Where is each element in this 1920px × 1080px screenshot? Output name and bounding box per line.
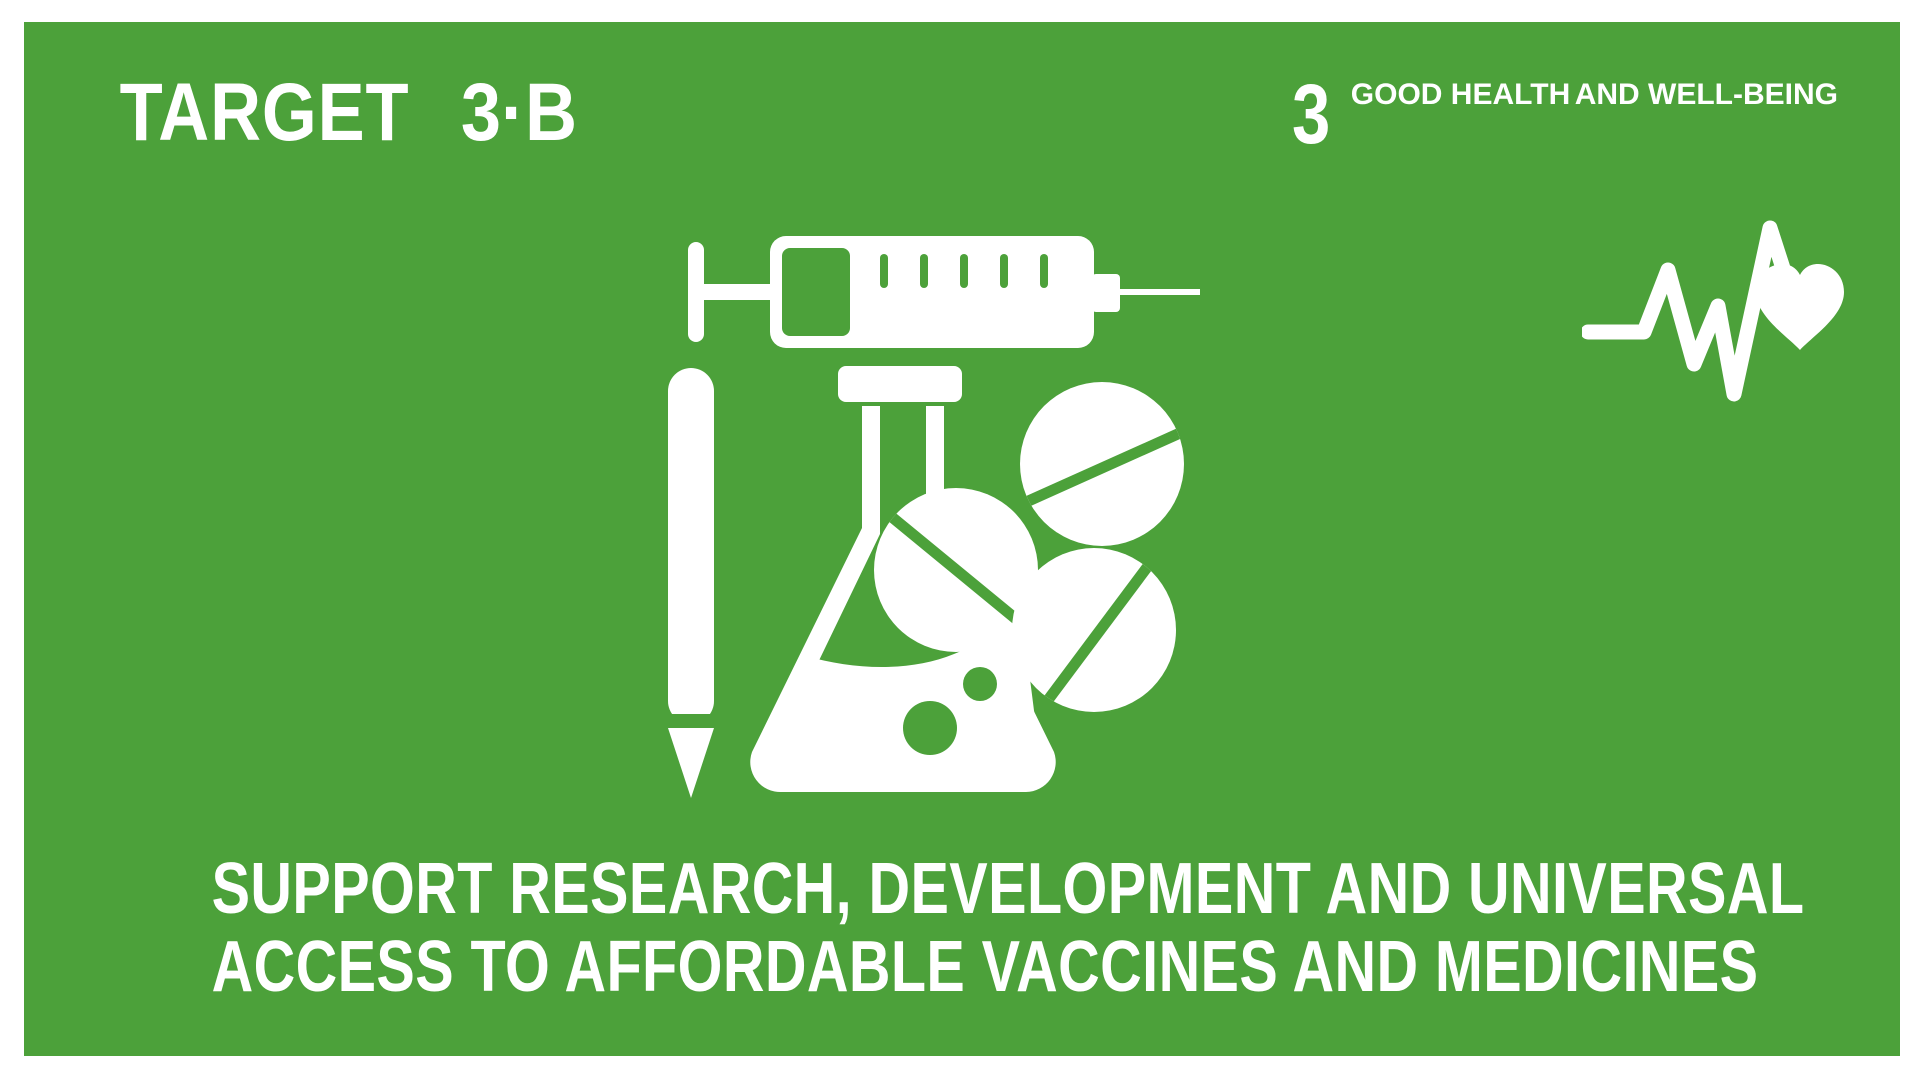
icon-cluster [684, 222, 1304, 822]
thermometer-icon [668, 368, 714, 798]
sdg-target-poster: TARGET 3·B 3 GOOD HEALTH AND WELL-BEING [24, 22, 1900, 1056]
target-caption: SUPPORT RESEARCH, DEVELOPMENT AND UNIVER… [24, 850, 1900, 1006]
caption-line-1: SUPPORT RESEARCH, DEVELOPMENT AND UNIVER… [212, 850, 1713, 928]
caption-line-2: ACCESS TO AFFORDABLE VACCINES AND MEDICI… [212, 928, 1713, 1006]
goal-title-line-2: AND WELL-BEING [1575, 78, 1838, 111]
goal-title-line-1: GOOD HEALTH [1351, 78, 1570, 111]
heartbeat-pulse-heart-icon [1582, 204, 1850, 404]
target-label: TARGET [120, 72, 410, 154]
goal-title: GOOD HEALTH AND WELL-BEING [1351, 80, 1838, 110]
goal-number: 3 [1292, 74, 1330, 154]
goal-badge: 3 GOOD HEALTH AND WELL-BEING [1292, 74, 1838, 154]
pills-icon [854, 362, 1214, 722]
target-header: TARGET 3·B [96, 72, 589, 154]
target-number: 3·B [401, 72, 577, 154]
pill-top-right [1004, 382, 1200, 546]
pill-bottom-right [1012, 548, 1176, 712]
syringe-icon [684, 222, 1204, 362]
